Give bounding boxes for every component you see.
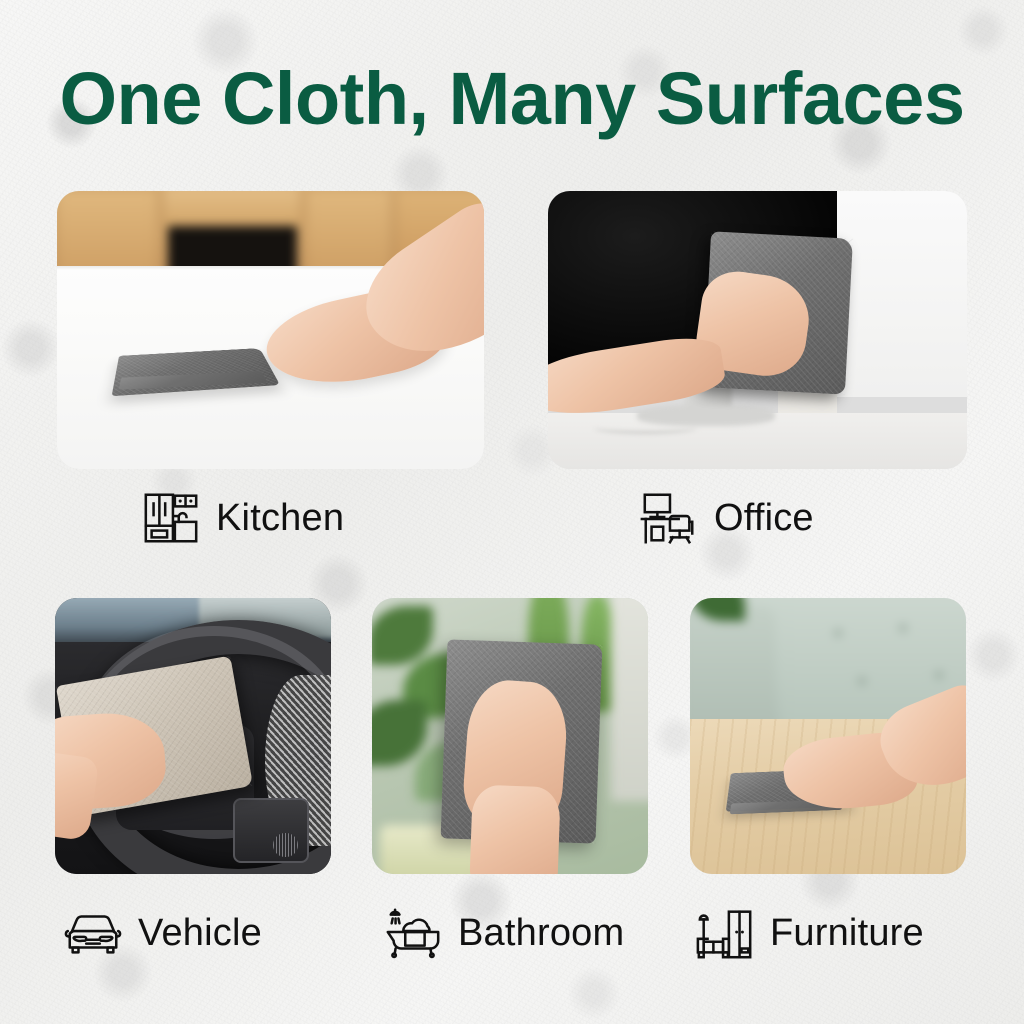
vehicle-wheel-buttons xyxy=(233,798,309,863)
furniture-photo xyxy=(690,598,966,874)
sofa-tuft-button xyxy=(899,624,907,632)
bathtub-shower-icon xyxy=(382,902,444,964)
photo-card-vehicle xyxy=(55,598,331,874)
bathroom-photo xyxy=(372,598,648,874)
vehicle-photo xyxy=(55,598,331,874)
vehicle-wheel-speaker xyxy=(273,833,298,858)
plant-leaf xyxy=(372,700,427,765)
label-vehicle-text: Vehicle xyxy=(138,914,262,952)
kitchen-cabinet-top xyxy=(163,191,301,230)
photo-card-kitchen xyxy=(57,191,484,469)
label-bathroom: Bathroom xyxy=(382,898,624,968)
office-cable xyxy=(594,423,697,435)
photo-card-bathroom xyxy=(372,598,648,874)
kitchen-photo xyxy=(57,191,484,469)
label-kitchen: Kitchen xyxy=(140,483,344,553)
label-office-text: Office xyxy=(714,499,814,537)
label-office: Office xyxy=(638,483,814,553)
desk-monitor-chair-icon xyxy=(638,487,700,549)
infographic-page: One Cloth, Many Surfaces xyxy=(0,0,1024,1024)
office-photo xyxy=(548,191,967,469)
sofa-lamp-wardrobe-icon xyxy=(694,902,756,964)
bathroom-wrist xyxy=(470,784,562,874)
page-title: One Cloth, Many Surfaces xyxy=(0,62,1024,136)
sofa-tuft-button xyxy=(858,677,866,685)
refrigerator-kitchen-icon xyxy=(140,487,202,549)
plant-leaf xyxy=(372,606,433,665)
label-bathroom-text: Bathroom xyxy=(458,914,624,952)
car-front-icon xyxy=(62,902,124,964)
label-furniture-text: Furniture xyxy=(770,914,924,952)
label-kitchen-text: Kitchen xyxy=(216,499,344,537)
label-furniture: Furniture xyxy=(694,898,924,968)
photo-card-office xyxy=(548,191,967,469)
bathroom-wall xyxy=(611,598,648,801)
label-vehicle: Vehicle xyxy=(62,898,262,968)
photo-card-furniture xyxy=(690,598,966,874)
sofa-tuft-button xyxy=(935,671,943,679)
furniture-sofa-armrest xyxy=(690,606,775,736)
